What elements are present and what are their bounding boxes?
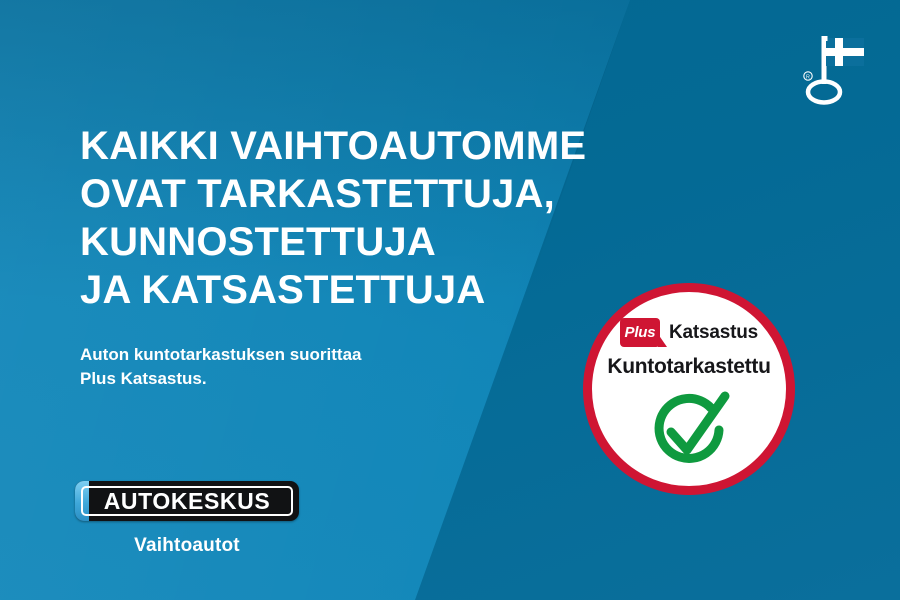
kuntotarkastettu-badge: Plus Katsastus Kuntotarkastettu — [583, 283, 795, 495]
avainlippu-key-flag-icon: R — [786, 24, 866, 106]
plus-katsastus-logo: Plus Katsastus — [592, 318, 786, 347]
headline-line-4: JA KATSASTETTUJA — [80, 266, 680, 314]
headline: KAIKKI VAIHTOAUTOMME OVAT TARKASTETTUJA,… — [80, 122, 680, 314]
plate-inner-border: AUTOKESKUS — [81, 486, 293, 516]
autokeskus-tagline: Vaihtoautot — [75, 535, 299, 557]
subtitle: Auton kuntotarkastuksen suorittaa Plus K… — [80, 343, 500, 391]
badge-inner: Plus Katsastus Kuntotarkastettu — [592, 292, 786, 486]
green-check-circle-icon — [641, 388, 737, 476]
plus-speech-bubble-icon: Plus — [620, 318, 660, 347]
headline-line-2: OVAT TARKASTETTUJA, — [80, 170, 680, 218]
headline-line-3: KUNNOSTETTUJA — [80, 218, 680, 266]
badge-status-text: Kuntotarkastettu — [592, 355, 786, 379]
svg-text:R: R — [806, 75, 810, 81]
subtitle-line-2: Plus Katsastus. — [80, 367, 500, 391]
autokeskus-logo[interactable]: AUTOKESKUS Vaihtoautot — [75, 481, 315, 557]
plus-wordmark: Plus — [625, 325, 656, 340]
headline-line-1: KAIKKI VAIHTOAUTOMME — [80, 122, 680, 170]
autokeskus-plate: AUTOKESKUS — [75, 481, 299, 521]
katsastus-wordmark: Katsastus — [669, 323, 758, 342]
subtitle-line-1: Auton kuntotarkastuksen suorittaa — [80, 343, 500, 367]
autokeskus-wordmark: AUTOKESKUS — [104, 490, 271, 513]
promo-banner: R KAIKKI VAIHTOAUTOMME OVAT TARKASTETTUJ… — [0, 0, 900, 600]
